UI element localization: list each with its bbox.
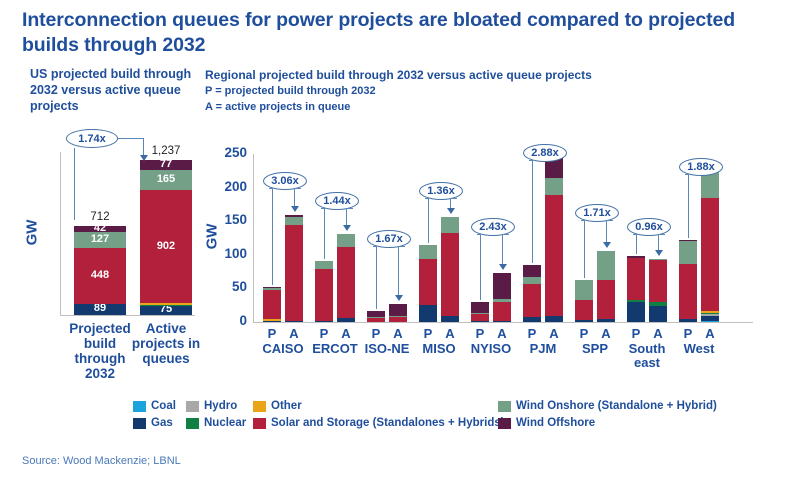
legend-swatch-gas <box>133 418 146 429</box>
right-panel-subtitle: Regional projected build through 2032 ve… <box>205 68 625 115</box>
left-panel-subtitle: US projected build through 2032 versus a… <box>30 66 195 114</box>
bar-segment-label: 448 <box>74 270 126 281</box>
legend-swatch-coal <box>133 401 146 412</box>
bar-segment-label: 75 <box>140 304 192 315</box>
legend-swatch-nuclear <box>186 418 199 429</box>
bar-segment-label: 127 <box>74 234 126 245</box>
x-axis-group-label: West <box>665 342 733 356</box>
page-title: Interconnection queues for power project… <box>22 8 762 58</box>
left-multiplier-callout: 1.74x <box>0 140 200 220</box>
callout-leader-left <box>74 148 75 220</box>
multiplier-pill: 1.74x <box>66 129 118 148</box>
chart-page: Interconnection queues for power project… <box>0 0 800 480</box>
legend-swatch-solar <box>253 418 266 429</box>
legend-item-solar: Solar and Storage (Standalones + Hybrids… <box>253 417 505 429</box>
legend-label-solar: Solar and Storage (Standalones + Hybrids… <box>271 417 505 429</box>
chart-legend: CoalGasHydroNuclearOtherSolar and Storag… <box>133 400 793 434</box>
callout-leader-right <box>143 138 144 156</box>
callout-leader-p <box>688 174 689 238</box>
legend-swatch-other <box>253 401 266 412</box>
legend-item-nuclear: Nuclear <box>186 417 246 429</box>
legend-swatch-wind_offshore <box>498 418 511 429</box>
legend-item-wind_onshore: Wind Onshore (Standalone + Hybrid) <box>498 400 717 412</box>
legend-item-other: Other <box>253 400 302 412</box>
legend-label-coal: Coal <box>151 400 176 412</box>
bar-segment-nuclear <box>140 305 192 306</box>
callout-leader-join <box>685 174 688 175</box>
legend-label-nuclear: Nuclear <box>204 417 246 429</box>
left-chart: GW8944812742712Projected build through 2… <box>0 140 200 390</box>
left-bar: 8944812742 <box>74 226 126 315</box>
legend-item-hydro: Hydro <box>186 400 237 412</box>
multiplier-callout-West: 1.88x <box>205 140 800 340</box>
legend-swatch-hydro <box>186 401 199 412</box>
legend-item-coal: Coal <box>133 400 176 412</box>
legend-label-other: Other <box>271 400 302 412</box>
legend-item-gas: Gas <box>133 417 173 429</box>
legend-swatch-wind_onshore <box>498 401 511 412</box>
legend-item-wind_offshore: Wind Offshore <box>498 417 595 429</box>
legend-label-hydro: Hydro <box>204 400 237 412</box>
legend-label-gas: Gas <box>151 417 173 429</box>
source-note: Source: Wood Mackenzie; LBNL <box>22 455 181 467</box>
legend-note-p: P = projected build through 2032 <box>205 83 625 99</box>
legend-label-wind_offshore: Wind Offshore <box>516 417 595 429</box>
legend-label-wind_onshore: Wind Onshore (Standalone + Hybrid) <box>516 400 717 412</box>
bar-segment-label: 89 <box>74 303 126 314</box>
bar-segment-label: 42 <box>74 223 126 234</box>
legend-note-a: A = active projects in queue <box>205 99 625 115</box>
bar-segment-label: 902 <box>140 241 192 252</box>
callout-leader-h2 <box>118 138 144 139</box>
callout-arrow <box>140 155 148 161</box>
right-panel-subtitle-text: Regional projected build through 2032 ve… <box>205 68 625 83</box>
bar-segment-other <box>140 303 192 304</box>
left-x-category: Active projects in queues <box>124 321 208 366</box>
right-chart: 050100150200250GWPACAISO3.06xPAERCOT1.44… <box>205 140 800 390</box>
